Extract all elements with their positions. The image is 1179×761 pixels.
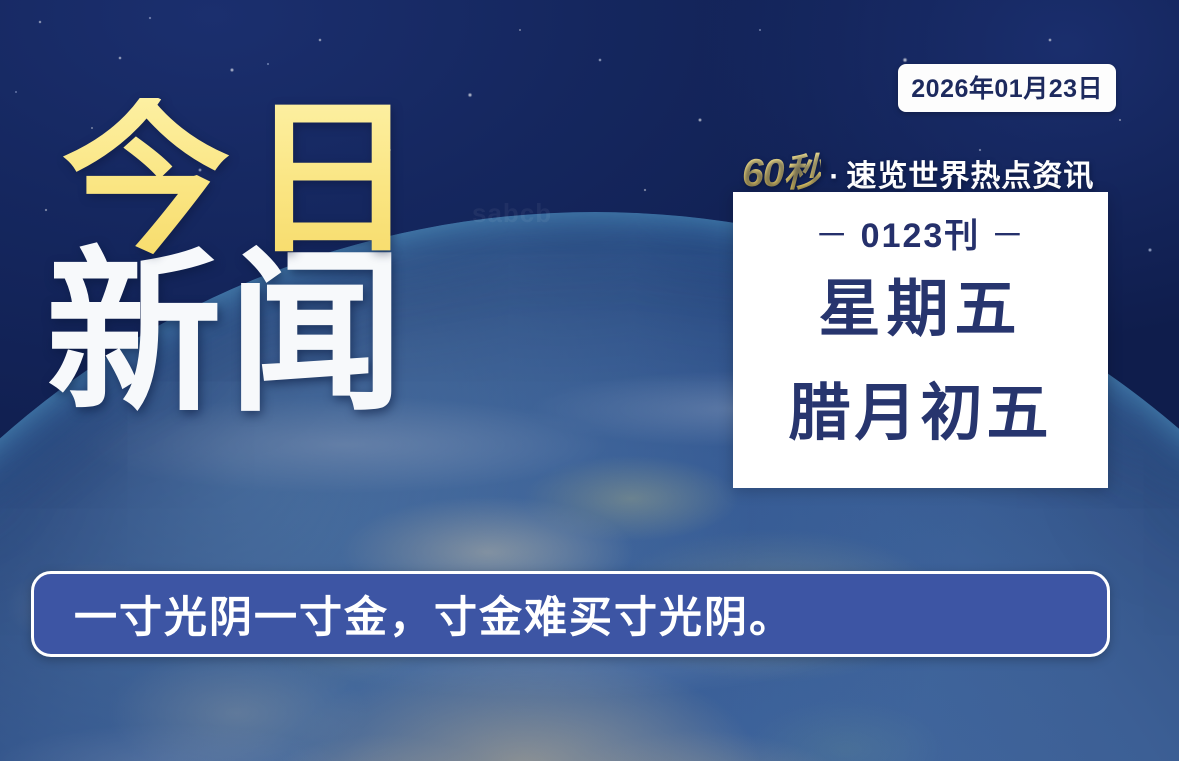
page-title-line1: 今日 (62, 98, 434, 261)
lunar-date-label: 腊月初五 (788, 383, 1052, 445)
news-poster: sabcb 今日 新闻 2026年01月23日 60秒 · 速览世界热点资讯 －… (0, 0, 1179, 761)
tagline-separator: · (829, 160, 839, 194)
page-title: 今日 新闻 (62, 98, 434, 420)
tagline-highlight: 60秒 (742, 142, 821, 198)
weekday-label: 星期五 (818, 279, 1022, 341)
quote-banner: 一寸光阴一寸金，寸金难买寸光阴。 (31, 571, 1110, 657)
issue-line: －0123刊－ (805, 208, 1037, 257)
issue-dash-right: － (990, 217, 1026, 255)
issue-dash-left: － (815, 217, 851, 255)
date-badge: 2026年01月23日 (898, 64, 1116, 112)
watermark-text: sabcb (472, 198, 552, 229)
tagline: 60秒 · 速览世界热点资讯 (742, 142, 1094, 198)
quote-text: 一寸光阴一寸金，寸金难买寸光阴。 (34, 583, 794, 645)
tagline-text: 速览世界热点资讯 (846, 151, 1094, 195)
issue-number: 0123刊 (861, 217, 981, 255)
info-card: －0123刊－ 星期五 腊月初五 (733, 192, 1108, 488)
